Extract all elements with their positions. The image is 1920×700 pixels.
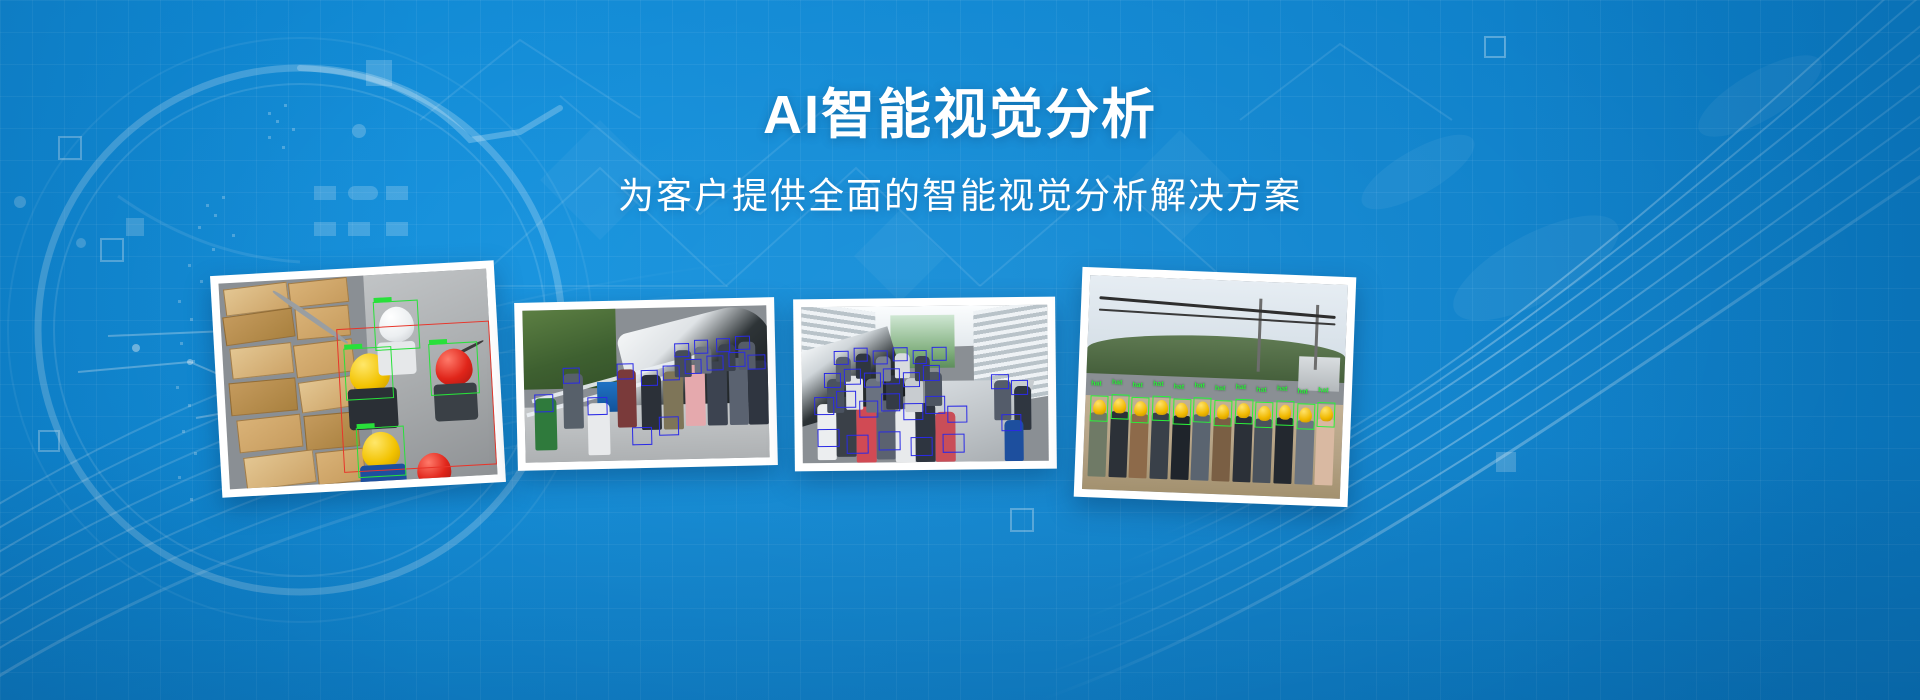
- gallery-photo-footbridge-face-detection[interactable]: [514, 297, 778, 471]
- photo-image-footbridge: [522, 305, 769, 462]
- detection-box-face: [588, 397, 608, 416]
- worker-body: [1273, 417, 1294, 484]
- detection-label-hat: hat: [1297, 388, 1308, 396]
- detection-box-face: [881, 394, 901, 411]
- decor-square-filled-1: [126, 218, 144, 236]
- carton: [243, 449, 316, 489]
- detection-label-hat: hat: [1153, 380, 1164, 388]
- worker-body: [1129, 414, 1149, 479]
- detection-box-helmet: [429, 341, 480, 395]
- banner-title: AI智能视觉分析: [0, 86, 1920, 145]
- worker-body: [1191, 414, 1212, 481]
- worker-body: [1170, 415, 1190, 480]
- carton: [229, 377, 299, 416]
- detection-box-hat: [1275, 400, 1294, 426]
- pedestrian: [748, 360, 769, 424]
- detection-box-helmet: [372, 299, 420, 351]
- carton: [229, 342, 294, 379]
- gallery-photo-station-crowd-face-detection[interactable]: [793, 297, 1057, 472]
- decor-square-filled-7: [386, 222, 408, 236]
- detection-box-hat: [1255, 401, 1274, 427]
- detection-box-face: [748, 354, 765, 370]
- detection-box-face: [922, 365, 939, 381]
- detection-box-face: [912, 350, 927, 364]
- detection-box-hat: [1131, 397, 1150, 423]
- hero-banner: AI智能视觉分析 为客户提供全面的智能视觉分析解决方案: [0, 0, 1920, 700]
- banner-headline: AI智能视觉分析 为客户提供全面的智能视觉分析解决方案: [0, 86, 1920, 219]
- detection-box-face: [879, 431, 901, 450]
- detection-label-hat: hat: [1277, 385, 1288, 393]
- photo-image-warehouse: [218, 269, 497, 490]
- detection-box-face: [716, 338, 731, 352]
- detection-box-helmet: [343, 346, 394, 400]
- detection-box-face: [824, 372, 841, 388]
- detection-box-face: [859, 400, 879, 417]
- detection-label-hat: hat: [1112, 379, 1123, 387]
- banner-subtitle: 为客户提供全面的智能视觉分析解决方案: [0, 167, 1920, 219]
- detection-box-face: [735, 336, 750, 350]
- photo-image-outdoor-workers: hat hat hat hat hat hat hat hat hat hat: [1082, 275, 1348, 499]
- detection-box-face: [932, 346, 947, 360]
- detection-box-hat: [1296, 403, 1315, 429]
- photo-gallery-strip: hat hat hat hat hat hat hat hat hat hat: [0, 250, 1920, 530]
- detection-box-hat: [1110, 394, 1129, 420]
- decor-square-filled-6: [348, 222, 370, 236]
- worker-body: [1253, 419, 1273, 484]
- detection-box-face: [674, 343, 689, 357]
- detection-box-face: [893, 347, 908, 361]
- detection-box-face: [834, 350, 849, 364]
- detection-box-face: [873, 350, 888, 364]
- detection-box-face: [814, 397, 834, 414]
- detection-box-face: [943, 433, 965, 452]
- decor-dot-3: [76, 238, 86, 248]
- detection-label-hat: hat: [1174, 383, 1185, 391]
- worker-body: [1232, 416, 1253, 483]
- detection-label-hat: hat: [1235, 384, 1246, 392]
- detection-label-hat: hat: [1091, 380, 1102, 388]
- decor-square-filled-8: [366, 60, 392, 86]
- detection-box-face: [837, 391, 857, 408]
- detection-box-face: [728, 351, 745, 367]
- detection-box-face: [616, 363, 633, 380]
- detection-box-face: [659, 417, 679, 436]
- detection-box-face: [911, 437, 933, 456]
- detection-box-face: [903, 403, 923, 420]
- detection-box-helmet: [355, 426, 406, 478]
- gallery-photo-warehouse-helmet-detection[interactable]: [210, 260, 506, 498]
- detection-box-face: [563, 367, 580, 384]
- detection-box-face: [947, 405, 967, 422]
- detection-box-face: [853, 347, 868, 361]
- detection-box-face: [925, 396, 945, 413]
- detection-box-hat: [1214, 400, 1233, 426]
- decor-square-filled-5: [314, 222, 336, 236]
- detection-box-face: [1011, 380, 1028, 396]
- detection-box-face: [663, 365, 680, 381]
- detection-label-hat: hat: [1194, 382, 1205, 390]
- worker-body: [1294, 420, 1314, 485]
- detection-box-face: [863, 372, 880, 388]
- carton: [236, 414, 303, 454]
- detection-box-face: [991, 374, 1008, 390]
- detection-box-hat: [1317, 402, 1336, 428]
- detection-box-face: [684, 358, 701, 374]
- detection-box-face: [632, 426, 652, 445]
- worker-body: [1314, 419, 1335, 486]
- detection-box-face: [1002, 414, 1022, 431]
- decor-square-outline-5: [1484, 36, 1506, 58]
- detection-box-hat: [1172, 398, 1191, 424]
- detection-box-face: [706, 355, 723, 371]
- photo-image-station-corridor: [801, 305, 1049, 464]
- detection-box-hat: [1234, 398, 1253, 424]
- carton: [288, 277, 349, 308]
- worker-body: [1088, 412, 1108, 477]
- detection-label-hat: hat: [1256, 386, 1267, 394]
- detection-box-face: [844, 369, 861, 385]
- detection-box-face: [534, 394, 554, 413]
- detection-box-face: [694, 340, 709, 354]
- detection-box-face: [883, 369, 900, 385]
- detection-label-hat: hat: [1318, 387, 1329, 395]
- detection-box-hat: [1090, 395, 1109, 421]
- detection-label-hat: hat: [1132, 382, 1143, 390]
- detection-box-face: [847, 434, 869, 453]
- detection-box-face: [641, 370, 658, 386]
- detection-box-face: [903, 372, 920, 388]
- gallery-photo-outdoor-workers-hat-detection[interactable]: hat hat hat hat hat hat hat hat hat hat: [1074, 267, 1357, 507]
- detection-label-hat: hat: [1215, 385, 1226, 393]
- detection-box-hat: [1152, 395, 1171, 421]
- detection-box-face: [817, 429, 839, 448]
- worker-body: [1211, 417, 1231, 482]
- worker-body: [1150, 412, 1171, 479]
- worker-body: [1108, 411, 1129, 478]
- detection-box-hat: [1193, 397, 1212, 423]
